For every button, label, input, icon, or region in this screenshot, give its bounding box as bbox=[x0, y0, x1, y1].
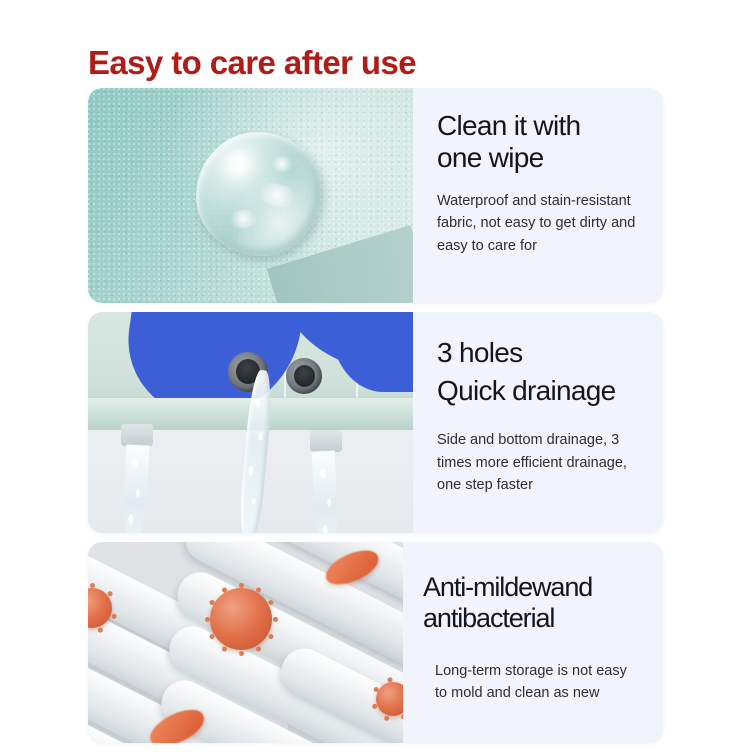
feature-card-list: Clean it with one wipe Waterproof and st… bbox=[88, 88, 663, 752]
bead-highlight-icon bbox=[214, 143, 263, 185]
card-heading-line-2: Quick drainage bbox=[437, 372, 647, 410]
water-bubble bbox=[128, 515, 133, 524]
card-heading-line-2: one wipe bbox=[437, 142, 647, 174]
side-drain-hole-closed bbox=[286, 358, 322, 394]
feature-card-three-holes-quick-drainage: 3 holes Quick drainage Side and bottom d… bbox=[88, 312, 663, 533]
microbe-particle-icon bbox=[376, 682, 403, 716]
card-heading-line-1: Anti-mildewand bbox=[423, 572, 647, 603]
water-bubble bbox=[327, 499, 331, 507]
feature-card-clean-one-wipe: Clean it with one wipe Waterproof and st… bbox=[88, 88, 663, 303]
water-bubble bbox=[255, 398, 261, 407]
card-heading: Anti-mildewand antibacterial bbox=[423, 572, 647, 634]
bead-highlight-icon bbox=[270, 156, 294, 172]
water-bubble bbox=[322, 525, 327, 533]
drain-hole-opening bbox=[294, 365, 315, 387]
card-heading: 3 holes Quick drainage bbox=[437, 334, 647, 409]
bead-highlight-icon bbox=[225, 208, 261, 231]
card-text-block: Anti-mildewand antibacterial Long-term s… bbox=[403, 542, 663, 743]
tub-drainage-water-flow-photo bbox=[88, 312, 413, 533]
water-droplet-bead bbox=[196, 132, 321, 256]
woven-fiber-microbe-closeup-photo bbox=[88, 542, 403, 743]
water-bubble bbox=[132, 459, 137, 468]
water-bubble bbox=[136, 489, 140, 497]
card-body-text: Side and bottom drainage, 3 times more e… bbox=[437, 429, 647, 496]
drainage-scene bbox=[88, 312, 413, 533]
card-heading: Clean it with one wipe bbox=[437, 110, 647, 174]
woven-fiber-texture bbox=[88, 542, 403, 743]
bottom-drain-nozzle bbox=[310, 430, 342, 452]
card-heading-line-1: Clean it with bbox=[437, 110, 647, 142]
water-bead-on-teal-fabric-photo bbox=[88, 88, 413, 303]
water-bubble bbox=[258, 432, 263, 440]
card-heading-line-1: 3 holes bbox=[437, 334, 647, 372]
blue-water-shape bbox=[331, 312, 413, 392]
feature-card-anti-mildew-antibacterial: Anti-mildewand antibacterial Long-term s… bbox=[88, 542, 663, 743]
water-bubble bbox=[320, 469, 325, 478]
water-bubble bbox=[251, 498, 256, 505]
water-bubble bbox=[248, 465, 254, 475]
bottom-drain-nozzle bbox=[121, 424, 153, 446]
card-text-block: 3 holes Quick drainage Side and bottom d… bbox=[413, 312, 663, 533]
card-body-text: Waterproof and stain-resistant fabric, n… bbox=[437, 190, 647, 257]
card-text-block: Clean it with one wipe Waterproof and st… bbox=[413, 88, 663, 303]
bead-highlight-icon bbox=[252, 179, 302, 211]
microbe-particle-icon bbox=[210, 588, 272, 650]
card-body-text: Long-term storage is not easy to mold an… bbox=[423, 660, 635, 705]
card-heading-line-2: antibacterial bbox=[423, 603, 647, 634]
page-title: Easy to care after use bbox=[88, 44, 416, 82]
